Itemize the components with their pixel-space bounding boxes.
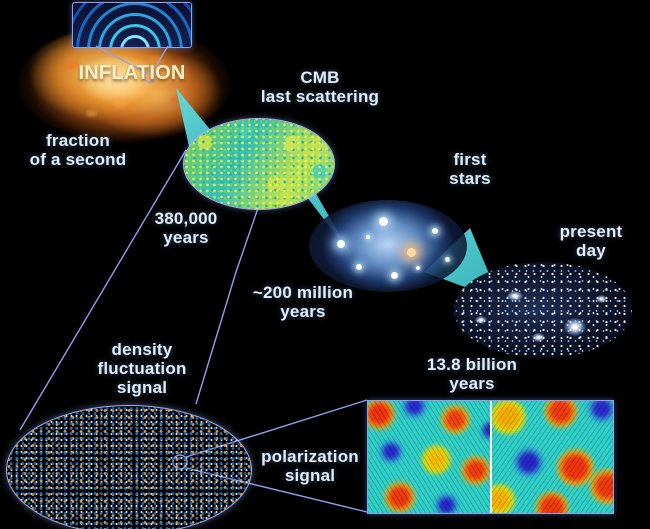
quantum-ripple-inset <box>72 2 192 48</box>
polarization-panel-right <box>490 401 614 513</box>
label-first-stars: first stars <box>420 150 520 188</box>
polarization-signal-panels <box>367 400 614 514</box>
cmb-last-scattering-disk <box>183 118 335 210</box>
all-sky-cmb-density-map <box>6 405 252 529</box>
label-polarization-signal: polarization signal <box>248 447 372 485</box>
label-present-day: present day <box>540 222 642 260</box>
present-day-deep-field <box>454 262 632 358</box>
label-13-8-billion-years: 13.8 billion years <box>396 355 548 393</box>
polarization-panel-left <box>368 401 490 513</box>
cosmic-timeline-figure: INFLATION fraction of a second CMB last … <box>0 0 650 529</box>
label-200-million-years: ~200 million years <box>234 283 372 321</box>
label-380000-years: 380,000 years <box>128 209 244 247</box>
label-density-fluctuation-signal: density fluctuation signal <box>78 340 206 397</box>
first-stars-cluster <box>309 200 467 292</box>
label-cmb-last-scattering: CMB last scattering <box>232 68 408 106</box>
